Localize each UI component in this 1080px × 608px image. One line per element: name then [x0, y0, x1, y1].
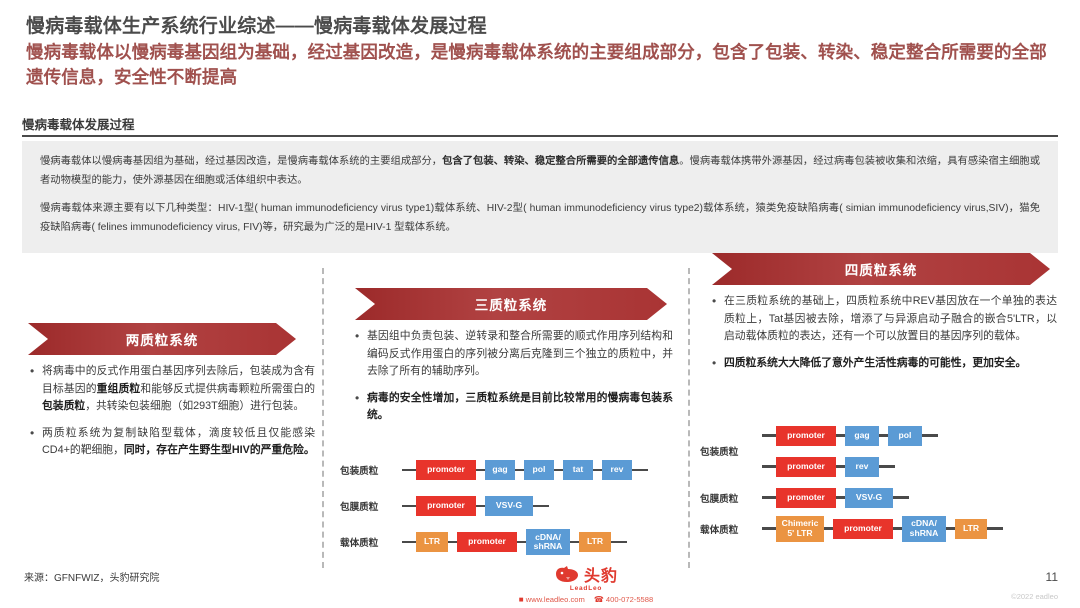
summary-box: 慢病毒载体以慢病毒基因组为基础，经过基因改造，是慢病毒载体系统的主要组成部分，包…: [22, 141, 1058, 253]
backbone-segment: [762, 496, 776, 499]
bullet-text-run: 四质粒系统大大降低了意外产生活性病毒的可能性，更加安全。: [724, 357, 1026, 369]
banner-three-plasmid-system: 三质粒系统: [355, 288, 667, 320]
bullet-item: •在三质粒系统的基础上，四质粒系统中REV基因放在一个单独的表达质粒上，Tat基…: [712, 293, 1057, 346]
bullet-list-column-1: •将病毒中的反式作用蛋白基因序列去除后，包装成为含有目标基因的重组质粒和能够反式…: [30, 363, 315, 469]
phone-item: ☎ 400-072-5588: [594, 595, 653, 604]
logo-row: 头豹: [554, 562, 618, 586]
backbone-segment: [611, 541, 627, 544]
source-note: 来源：GFNFWIZ，头豹研究院: [24, 569, 160, 584]
bullet-list-column-3: •在三质粒系统的基础上，四质粒系统中REV基因放在一个单独的表达质粒上，Tat基…: [712, 293, 1057, 381]
backbone-segment: [517, 541, 526, 544]
plasmid-group: 载体质粒Chimeric 5' LTRpromotercDNA/ shRNALT…: [700, 513, 1060, 544]
plasmid-row: promoterVSV-G: [762, 482, 1060, 513]
backbone-segment: [893, 527, 902, 530]
summary-p1-pre: 慢病毒载体以慢病毒基因组为基础，经过基因改造，是慢病毒载体系统的主要组成部分，: [40, 156, 442, 167]
backbone-segment: [824, 527, 833, 530]
backbone-segment: [762, 527, 776, 530]
plasmid-group: 包膜质粒promoterVSV-G: [700, 482, 1060, 513]
bullet-text: 四质粒系统大大降低了意外产生活性病毒的可能性，更加安全。: [724, 355, 1057, 373]
bullet-item: •四质粒系统大大降低了意外产生活性病毒的可能性，更加安全。: [712, 355, 1057, 373]
leopard-icon: [554, 565, 580, 583]
bullet-text: 病毒的安全性增加，三质粒系统是目前比较常用的慢病毒包装系统。: [367, 390, 673, 425]
gene-box: gag: [485, 460, 515, 480]
gene-box: tat: [563, 460, 593, 480]
gene-box: promoter: [776, 488, 836, 508]
plasmid-track: LTRpromotercDNA/ shRNALTR: [402, 529, 680, 555]
backbone-segment: [946, 527, 955, 530]
bullet-text-run: 在三质粒系统的基础上，四质粒系统中REV基因放在一个单独的表达质粒上，Tat基因…: [724, 295, 1057, 342]
gene-box: cDNA/ shRNA: [526, 529, 570, 555]
gene-box: Chimeric 5' LTR: [776, 516, 824, 542]
gene-box: cDNA/ shRNA: [902, 516, 946, 542]
plasmid-group-label: 载体质粒: [700, 522, 762, 536]
bullet-dot-icon: •: [30, 425, 42, 460]
backbone-segment: [879, 465, 895, 468]
plasmid-diagram-four-system: 包装质粒promotergagpolpromoterrev包膜质粒promote…: [700, 420, 1060, 544]
bullet-dot-icon: •: [712, 355, 724, 373]
backbone-segment: [987, 527, 1003, 530]
backbone-segment: [402, 469, 416, 472]
plasmid-row: 包膜质粒promoterVSV-G: [340, 488, 680, 524]
globe-icon: ■: [519, 595, 524, 604]
backbone-segment: [632, 469, 648, 472]
plasmid-group: 包装质粒promotergagpolpromoterrev: [700, 420, 1060, 482]
bullet-text-run: 基因组中负责包装、逆转录和整合所需要的顺式作用序列结构和编码反式作用蛋白的序列被…: [367, 330, 673, 377]
backbone-segment: [762, 465, 776, 468]
bullet-text-run: 包装质粒: [42, 400, 85, 412]
column-divider-left: [322, 268, 324, 568]
plasmid-row-label: 载体质粒: [340, 535, 402, 549]
bullet-text: 在三质粒系统的基础上，四质粒系统中REV基因放在一个单独的表达质粒上，Tat基因…: [724, 293, 1057, 346]
plasmid-row: 载体质粒LTRpromotercDNA/ shRNALTR: [340, 524, 680, 560]
plasmid-track: promoterrev: [762, 457, 1060, 477]
plasmid-row-label: 包装质粒: [340, 463, 402, 477]
bullet-text-run: 同时，存在产生野生型HIV的严重危险。: [124, 444, 315, 456]
gene-box: promoter: [833, 519, 893, 539]
bullet-dot-icon: •: [355, 390, 367, 425]
bullet-text-run: 重组质粒: [97, 383, 141, 395]
plasmid-group-rows: Chimeric 5' LTRpromotercDNA/ shRNALTR: [762, 513, 1060, 544]
backbone-segment: [515, 469, 524, 472]
gene-box: gag: [845, 426, 879, 446]
backbone-segment: [836, 434, 845, 437]
phone-icon: ☎: [594, 595, 604, 604]
phone-text: 400-072-5588: [606, 595, 653, 604]
backbone-segment: [836, 465, 845, 468]
bullet-dot-icon: •: [30, 363, 42, 416]
gene-box: VSV-G: [845, 488, 893, 508]
backbone-segment: [533, 505, 549, 508]
bullet-text-run: ，共转染包装细胞（如293T细胞）进行包装。: [85, 400, 304, 412]
logo-english-name: LeadLeo: [570, 585, 602, 592]
plasmid-row: promoterrev: [762, 451, 1060, 482]
gene-box: pol: [888, 426, 922, 446]
backbone-segment: [476, 469, 485, 472]
section-heading: 慢病毒载体发展过程: [22, 114, 135, 133]
bullet-text: 将病毒中的反式作用蛋白基因序列去除后，包装成为含有目标基因的重组质粒和能够反式提…: [42, 363, 315, 416]
backbone-segment: [554, 469, 563, 472]
backbone-segment: [922, 434, 938, 437]
column-divider-right: [688, 268, 690, 568]
backbone-segment: [893, 496, 909, 499]
plasmid-track: promotergagpol: [762, 426, 1060, 446]
gene-box: promoter: [416, 496, 476, 516]
page-title: 慢病毒载体生产系统行业综述——慢病毒载体发展过程: [26, 11, 487, 38]
backbone-segment: [448, 541, 457, 544]
website-text: www.leadleo.com: [526, 595, 585, 604]
page-number: 11: [1046, 570, 1058, 584]
backbone-segment: [570, 541, 579, 544]
plasmid-row: promotergagpol: [762, 420, 1060, 451]
plasmid-track: promoterVSV-G: [402, 496, 680, 516]
gene-box: pol: [524, 460, 554, 480]
backbone-segment: [402, 505, 416, 508]
plasmid-group-rows: promoterVSV-G: [762, 482, 1060, 513]
logo-contact-row: ■ www.leadleo.com ☎ 400-072-5588: [519, 595, 653, 604]
backbone-segment: [476, 505, 485, 508]
plasmid-track: Chimeric 5' LTRpromotercDNA/ shRNALTR: [762, 516, 1060, 542]
bullet-text-run: 和能够反式提供病毒颗粒所需蛋白的: [140, 383, 315, 395]
plasmid-row: 包装质粒promotergagpoltatrev: [340, 452, 680, 488]
bullet-item: •基因组中负责包装、逆转录和整合所需要的顺式作用序列结构和编码反式作用蛋白的序列…: [355, 328, 673, 381]
plasmid-row-label: 包膜质粒: [340, 499, 402, 513]
bullet-dot-icon: •: [712, 293, 724, 346]
gene-box: rev: [845, 457, 879, 477]
plasmid-row: Chimeric 5' LTRpromotercDNA/ shRNALTR: [762, 513, 1060, 544]
slide-page: 慢病毒载体生产系统行业综述——慢病毒载体发展过程 慢病毒载体以慢病毒基因组为基础…: [0, 0, 1080, 608]
backbone-segment: [593, 469, 602, 472]
backbone-segment: [836, 496, 845, 499]
section-divider-rule: [22, 135, 1058, 137]
summary-paragraph-2: 慢病毒载体来源主要有以下几种类型：HIV-1型( human immunodef…: [40, 199, 1040, 237]
plasmid-track: promoterVSV-G: [762, 488, 1060, 508]
copyright-note: ©2022 eadleo: [1011, 592, 1058, 601]
backbone-segment: [879, 434, 888, 437]
summary-p1-bold: 包含了包装、转染、稳定整合所需要的全部遗传信息: [442, 156, 679, 167]
gene-box: rev: [602, 460, 632, 480]
bullet-item: •两质粒系统为复制缺陷型载体，滴度较低且仅能感染CD4+的靶细胞，同时，存在产生…: [30, 425, 315, 460]
plasmid-group-label: 包膜质粒: [700, 491, 762, 505]
backbone-segment: [762, 434, 776, 437]
bullet-dot-icon: •: [355, 328, 367, 381]
bullet-list-column-2: •基因组中负责包装、逆转录和整合所需要的顺式作用序列结构和编码反式作用蛋白的序列…: [355, 328, 673, 434]
bullet-text: 两质粒系统为复制缺陷型载体，滴度较低且仅能感染CD4+的靶细胞，同时，存在产生野…: [42, 425, 315, 460]
gene-box: promoter: [457, 532, 517, 552]
gene-box: VSV-G: [485, 496, 533, 516]
page-subtitle: 慢病毒载体以慢病毒基因组为基础，经过基因改造，是慢病毒载体系统的主要组成部分，包…: [26, 40, 1061, 90]
gene-box: LTR: [416, 532, 448, 552]
banner-four-plasmid-system: 四质粒系统: [712, 253, 1050, 285]
plasmid-group-rows: promotergagpolpromoterrev: [762, 420, 1060, 482]
bullet-text: 基因组中负责包装、逆转录和整合所需要的顺式作用序列结构和编码反式作用蛋白的序列被…: [367, 328, 673, 381]
plasmid-track: promotergagpoltatrev: [402, 460, 680, 480]
gene-box: promoter: [776, 457, 836, 477]
brand-logo: 头豹 LeadLeo ■ www.leadleo.com ☎ 400-072-5…: [486, 562, 686, 604]
backbone-segment: [402, 541, 416, 544]
website-item: ■ www.leadleo.com: [519, 595, 585, 604]
gene-box: promoter: [776, 426, 836, 446]
banner-two-plasmid-system: 两质粒系统: [28, 323, 296, 355]
gene-box: LTR: [579, 532, 611, 552]
bullet-item: •病毒的安全性增加，三质粒系统是目前比较常用的慢病毒包装系统。: [355, 390, 673, 425]
bullet-item: •将病毒中的反式作用蛋白基因序列去除后，包装成为含有目标基因的重组质粒和能够反式…: [30, 363, 315, 416]
summary-paragraph-1: 慢病毒载体以慢病毒基因组为基础，经过基因改造，是慢病毒载体系统的主要组成部分，包…: [40, 152, 1040, 190]
plasmid-group-label: 包装质粒: [700, 444, 762, 458]
plasmid-diagram-three-system: 包装质粒promotergagpoltatrev包膜质粒promoterVSV-…: [340, 452, 680, 560]
gene-box: LTR: [955, 519, 987, 539]
logo-chinese-name: 头豹: [584, 562, 618, 586]
gene-box: promoter: [416, 460, 476, 480]
bullet-text-run: 病毒的安全性增加，三质粒系统是目前比较常用的慢病毒包装系统。: [367, 392, 673, 422]
